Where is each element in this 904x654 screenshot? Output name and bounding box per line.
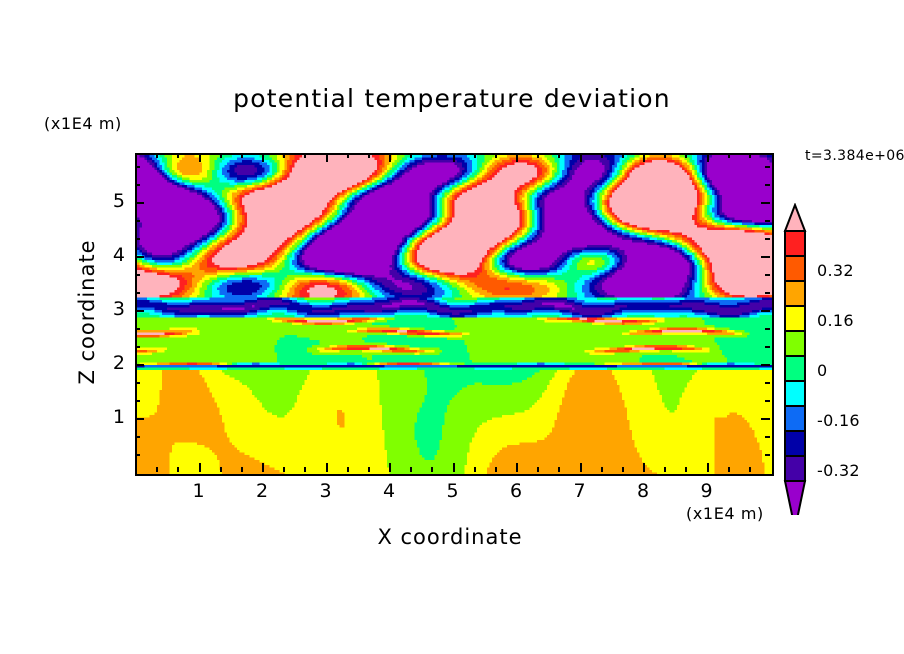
y-tick-minor: [135, 436, 140, 438]
time-annotation: t=3.384e+06 s: [805, 148, 904, 164]
x-tick-minor: [537, 467, 539, 472]
y-tick-minor: [135, 184, 140, 186]
y-tick-minor: [135, 328, 140, 330]
y-tick-label: 4: [95, 244, 125, 266]
colorbar-cell: [785, 331, 805, 356]
x-tick-minor-top: [177, 153, 179, 158]
x-tick-minor-top: [220, 153, 222, 158]
colorbar-cell: [785, 456, 805, 481]
x-tick-label: 6: [496, 480, 536, 502]
x-tick-minor-top: [304, 153, 306, 158]
x-tick-minor-top: [558, 153, 560, 158]
y-tick-label: 5: [95, 190, 125, 212]
x-tick-minor: [664, 467, 666, 472]
x-tick-major: [643, 463, 645, 472]
y-tick-major-right: [761, 364, 770, 366]
y-tick-minor: [135, 166, 140, 168]
colorbar-under-arrow: [785, 481, 805, 515]
colorbar-cell: [785, 231, 805, 256]
colorbar-cell: [785, 281, 805, 306]
x-tick-minor: [685, 467, 687, 472]
y-tick-major: [135, 364, 144, 366]
y-tick-minor-right: [765, 274, 770, 276]
x-tick-label: 1: [179, 480, 219, 502]
colorbar-tick-label: -0.16: [817, 411, 860, 430]
contour-plot-area: [135, 153, 774, 476]
x-tick-major-top: [516, 153, 518, 162]
x-tick-major-top: [580, 153, 582, 162]
y-tick-minor: [135, 274, 140, 276]
x-tick-label: 5: [433, 480, 473, 502]
y-tick-major-right: [761, 310, 770, 312]
x-tick-minor-top: [601, 153, 603, 158]
colorbar-cell: [785, 356, 805, 381]
x-tick-minor-top: [347, 153, 349, 158]
x-tick-label: 7: [560, 480, 600, 502]
y-tick-minor-right: [765, 292, 770, 294]
y-tick-minor-right: [765, 346, 770, 348]
x-tick-minor-top: [156, 153, 158, 158]
y-tick-minor-right: [765, 400, 770, 402]
x-tick-label: 9: [687, 480, 727, 502]
colorbar-cell: [785, 306, 805, 331]
x-tick-minor-top: [431, 153, 433, 158]
y-tick-minor-right: [765, 220, 770, 222]
x-tick-major: [516, 463, 518, 472]
colorbar-tick-label: 0.16: [817, 311, 854, 330]
x-tick-major-top: [643, 153, 645, 162]
x-tick-minor-top: [622, 153, 624, 158]
y-tick-minor-right: [765, 166, 770, 168]
y-tick-minor-right: [765, 382, 770, 384]
x-tick-label: 2: [242, 480, 282, 502]
x-tick-minor-top: [410, 153, 412, 158]
y-tick-minor: [135, 346, 140, 348]
x-tick-minor: [431, 467, 433, 472]
page-title: potential temperature deviation: [0, 84, 904, 113]
y-tick-major-right: [761, 418, 770, 420]
y-tick-major: [135, 256, 144, 258]
x-tick-minor-top: [283, 153, 285, 158]
y-tick-minor: [135, 382, 140, 384]
colorbar-cell: [785, 256, 805, 281]
y-tick-label: 2: [95, 352, 125, 374]
x-tick-major: [580, 463, 582, 472]
x-tick-label: 3: [306, 480, 346, 502]
y-tick-minor-right: [765, 454, 770, 456]
colorbar-cell: [785, 431, 805, 456]
x-tick-major: [389, 463, 391, 472]
x-tick-major-top: [453, 153, 455, 162]
x-tick-major-top: [707, 153, 709, 162]
x-axis-label: X coordinate: [300, 525, 600, 549]
y-tick-major-right: [761, 202, 770, 204]
y-tick-minor-right: [765, 436, 770, 438]
x-tick-minor: [558, 467, 560, 472]
x-tick-label: 8: [623, 480, 663, 502]
colorbar-cell: [785, 381, 805, 406]
y-tick-minor: [135, 400, 140, 402]
x-tick-minor-top: [728, 153, 730, 158]
contour-field: [137, 155, 772, 474]
y-tick-minor-right: [765, 238, 770, 240]
y-tick-label: 1: [95, 406, 125, 428]
x-tick-minor-top: [495, 153, 497, 158]
y-tick-minor: [135, 220, 140, 222]
y-tick-minor: [135, 454, 140, 456]
x-tick-label: 4: [369, 480, 409, 502]
x-tick-minor-top: [664, 153, 666, 158]
y-axis-label: Z coordinate: [75, 202, 99, 422]
x-tick-minor: [495, 467, 497, 472]
y-tick-minor-right: [765, 184, 770, 186]
x-tick-major-top: [262, 153, 264, 162]
x-tick-major-top: [389, 153, 391, 162]
x-tick-minor: [601, 467, 603, 472]
x-tick-minor-top: [241, 153, 243, 158]
y-tick-minor-right: [765, 328, 770, 330]
x-tick-major-top: [199, 153, 201, 162]
colorbar-tick-label: 0.32: [817, 261, 854, 280]
z-axis-unit-label: (x1E4 m): [44, 114, 122, 133]
x-tick-major: [262, 463, 264, 472]
y-tick-major-right: [761, 256, 770, 258]
x-tick-minor: [728, 467, 730, 472]
y-tick-label: 3: [95, 298, 125, 320]
x-tick-major: [326, 463, 328, 472]
x-tick-minor: [749, 467, 751, 472]
x-tick-major: [453, 463, 455, 472]
x-tick-minor-top: [749, 153, 751, 158]
y-tick-minor: [135, 238, 140, 240]
x-tick-minor-top: [368, 153, 370, 158]
x-tick-minor: [283, 467, 285, 472]
y-tick-major: [135, 418, 144, 420]
x-tick-minor: [410, 467, 412, 472]
colorbar-over-arrow: [785, 205, 805, 231]
x-tick-minor-top: [685, 153, 687, 158]
x-tick-minor: [368, 467, 370, 472]
x-tick-minor: [347, 467, 349, 472]
y-tick-major: [135, 310, 144, 312]
y-tick-major: [135, 202, 144, 204]
colorbar-cell: [785, 406, 805, 431]
x-tick-minor-top: [537, 153, 539, 158]
x-tick-minor: [304, 467, 306, 472]
x-tick-minor: [474, 467, 476, 472]
y-tick-minor: [135, 292, 140, 294]
x-tick-minor: [220, 467, 222, 472]
x-tick-minor: [177, 467, 179, 472]
colorbar-tick-label: 0: [817, 361, 827, 380]
x-tick-major: [199, 463, 201, 472]
x-tick-major: [707, 463, 709, 472]
x-tick-minor: [241, 467, 243, 472]
x-tick-minor: [622, 467, 624, 472]
x-axis-unit-label: (x1E4 m): [686, 504, 764, 523]
x-tick-minor-top: [474, 153, 476, 158]
colorbar-tick-label: -0.32: [817, 461, 860, 480]
x-tick-minor: [156, 467, 158, 472]
x-tick-major-top: [326, 153, 328, 162]
